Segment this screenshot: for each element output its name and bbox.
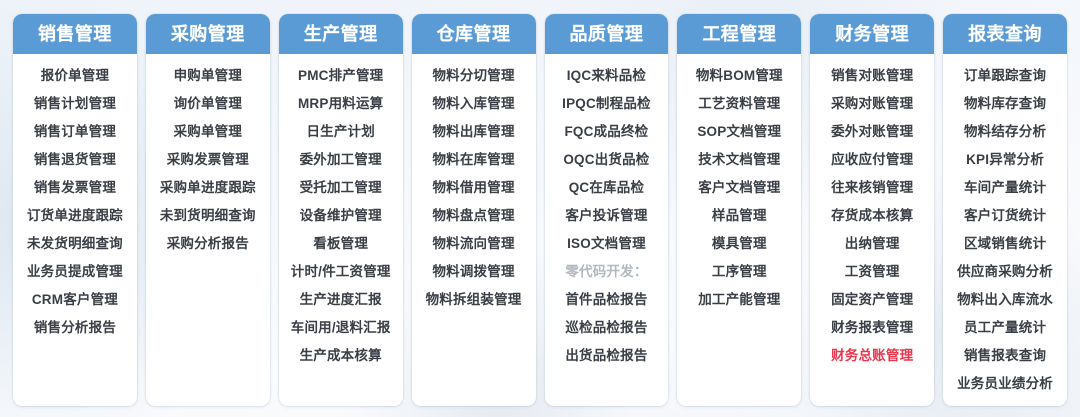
- menu-item-物料BOM管理[interactable]: 物料BOM管理: [696, 66, 783, 86]
- menu-item-OQC出货品检[interactable]: OQC出货品检: [563, 150, 649, 170]
- menu-item-应收应付管理[interactable]: 应收应付管理: [831, 150, 913, 170]
- menu-item-未到货明细查询[interactable]: 未到货明细查询: [160, 206, 256, 226]
- card-header-报表查询[interactable]: 报表查询: [943, 14, 1067, 54]
- menu-item-供应商采购分析[interactable]: 供应商采购分析: [957, 262, 1053, 282]
- menu-item-采购发票管理[interactable]: 采购发票管理: [167, 150, 249, 170]
- menu-item-报价单管理[interactable]: 报价单管理: [41, 66, 110, 86]
- menu-item-物料分切管理[interactable]: 物料分切管理: [432, 66, 514, 86]
- card-header-title: 报表查询: [968, 25, 1042, 43]
- card-header-title: 工程管理: [702, 25, 776, 43]
- menu-item-采购单管理[interactable]: 采购单管理: [174, 122, 243, 142]
- menu-item-固定资产管理[interactable]: 固定资产管理: [831, 290, 913, 310]
- menu-item-看板管理[interactable]: 看板管理: [313, 234, 368, 254]
- menu-item-受托加工管理[interactable]: 受托加工管理: [300, 178, 382, 198]
- card-header-title: 财务管理: [835, 25, 909, 43]
- menu-item-物料在库管理[interactable]: 物料在库管理: [432, 150, 514, 170]
- menu-item-销售报表查询[interactable]: 销售报表查询: [964, 346, 1046, 366]
- menu-item-客户文档管理[interactable]: 客户文档管理: [698, 178, 780, 198]
- menu-item-物料入库管理[interactable]: 物料入库管理: [432, 94, 514, 114]
- card-header-销售管理[interactable]: 销售管理: [13, 14, 137, 54]
- menu-item-往来核销管理[interactable]: 往来核销管理: [831, 178, 913, 198]
- card-header-工程管理[interactable]: 工程管理: [677, 14, 801, 54]
- menu-item-MRP用料运算[interactable]: MRP用料运算: [298, 94, 383, 114]
- card-header-title: 生产管理: [304, 25, 378, 43]
- menu-item-业务员业绩分析[interactable]: 业务员业绩分析: [957, 374, 1053, 394]
- card-body-品质管理: IQC来料品检IPQC制程品检FQC成品终检OQC出货品检QC在库品检客户投诉管…: [545, 54, 669, 406]
- menu-item-IQC来料品检[interactable]: IQC来料品检: [567, 66, 646, 86]
- menu-item-模具管理[interactable]: 模具管理: [712, 234, 767, 254]
- card-header-title: 采购管理: [171, 25, 245, 43]
- menu-item-车间用-退料汇报[interactable]: 车间用/退料汇报: [291, 318, 391, 338]
- module-card-仓库管理: 仓库管理物料分切管理物料入库管理物料出库管理物料在库管理物料借用管理物料盘点管理…: [412, 14, 536, 406]
- menu-item-巡检品检报告[interactable]: 巡检品检报告: [565, 318, 647, 338]
- module-card-报表查询: 报表查询订单跟踪查询物料库存查询物料结存分析KPI异常分析车间产量统计客户订货统…: [943, 14, 1067, 406]
- module-card-销售管理: 销售管理报价单管理销售计划管理销售订单管理销售退货管理销售发票管理订货单进度跟踪…: [13, 14, 137, 406]
- menu-item-样品管理[interactable]: 样品管理: [712, 206, 767, 226]
- menu-item-车间产量统计[interactable]: 车间产量统计: [964, 178, 1046, 198]
- card-header-title: 仓库管理: [437, 25, 511, 43]
- menu-item-物料出库管理[interactable]: 物料出库管理: [432, 122, 514, 142]
- menu-item-存货成本核算[interactable]: 存货成本核算: [831, 206, 913, 226]
- menu-item-CRM客户管理[interactable]: CRM客户管理: [32, 290, 118, 310]
- menu-item-询价单管理[interactable]: 询价单管理: [174, 94, 243, 114]
- menu-item-日生产计划[interactable]: 日生产计划: [306, 122, 375, 142]
- menu-item-订货单进度跟踪[interactable]: 订货单进度跟踪: [27, 206, 123, 226]
- module-card-工程管理: 工程管理物料BOM管理工艺资料管理SOP文档管理技术文档管理客户文档管理样品管理…: [677, 14, 801, 406]
- card-header-品质管理[interactable]: 品质管理: [545, 14, 669, 54]
- card-body-报表查询: 订单跟踪查询物料库存查询物料结存分析KPI异常分析车间产量统计客户订货统计区域销…: [943, 54, 1067, 406]
- menu-item-加工产能管理[interactable]: 加工产能管理: [698, 290, 780, 310]
- card-body-生产管理: PMC排产管理MRP用料运算日生产计划委外加工管理受托加工管理设备维护管理看板管…: [279, 54, 403, 406]
- menu-item-工资管理[interactable]: 工资管理: [845, 262, 900, 282]
- menu-item-客户订货统计[interactable]: 客户订货统计: [964, 206, 1046, 226]
- module-card-生产管理: 生产管理PMC排产管理MRP用料运算日生产计划委外加工管理受托加工管理设备维护管…: [279, 14, 403, 406]
- module-board: 销售管理报价单管理销售计划管理销售订单管理销售退货管理销售发票管理订货单进度跟踪…: [0, 0, 1080, 417]
- menu-item-客户投诉管理[interactable]: 客户投诉管理: [565, 206, 647, 226]
- menu-item-采购分析报告[interactable]: 采购分析报告: [167, 234, 249, 254]
- card-header-生产管理[interactable]: 生产管理: [279, 14, 403, 54]
- card-header-采购管理[interactable]: 采购管理: [146, 14, 270, 54]
- menu-item-员工产量统计[interactable]: 员工产量统计: [964, 318, 1046, 338]
- menu-item-KPI异常分析[interactable]: KPI异常分析: [966, 150, 1044, 170]
- menu-item-物料流向管理[interactable]: 物料流向管理: [432, 234, 514, 254]
- menu-item-PMC排产管理[interactable]: PMC排产管理: [298, 66, 383, 86]
- card-header-title: 品质管理: [569, 25, 643, 43]
- menu-item-财务报表管理[interactable]: 财务报表管理: [831, 318, 913, 338]
- menu-item-销售退货管理[interactable]: 销售退货管理: [34, 150, 116, 170]
- menu-item-物料盘点管理[interactable]: 物料盘点管理: [432, 206, 514, 226]
- menu-item-物料借用管理[interactable]: 物料借用管理: [432, 178, 514, 198]
- menu-item-区域销售统计[interactable]: 区域销售统计: [964, 234, 1046, 254]
- menu-item-物料结存分析[interactable]: 物料结存分析: [964, 122, 1046, 142]
- menu-item-技术文档管理[interactable]: 技术文档管理: [698, 150, 780, 170]
- module-card-品质管理: 品质管理IQC来料品检IPQC制程品检FQC成品终检OQC出货品检QC在库品检客…: [545, 14, 669, 406]
- menu-item-订单跟踪查询[interactable]: 订单跟踪查询: [964, 66, 1046, 86]
- menu-item-生产成本核算[interactable]: 生产成本核算: [300, 346, 382, 366]
- menu-item-IPQC制程品检[interactable]: IPQC制程品检: [562, 94, 651, 114]
- menu-item-工艺资料管理[interactable]: 工艺资料管理: [698, 94, 780, 114]
- menu-item-物料调拨管理[interactable]: 物料调拨管理: [432, 262, 514, 282]
- card-body-采购管理: 申购单管理询价单管理采购单管理采购发票管理采购单进度跟踪未到货明细查询采购分析报…: [146, 54, 270, 406]
- menu-item-申购单管理[interactable]: 申购单管理: [174, 66, 243, 86]
- menu-item-计时-件工资管理[interactable]: 计时/件工资管理: [291, 262, 391, 282]
- menu-item-未发货明细查询[interactable]: 未发货明细查询: [27, 234, 123, 254]
- menu-item-出货品检报告[interactable]: 出货品检报告: [565, 346, 647, 366]
- menu-item-物料拆组装管理[interactable]: 物料拆组装管理: [426, 290, 522, 310]
- card-header-title: 销售管理: [38, 25, 112, 43]
- card-body-销售管理: 报价单管理销售计划管理销售订单管理销售退货管理销售发票管理订货单进度跟踪未发货明…: [13, 54, 137, 406]
- menu-item-生产进度汇报[interactable]: 生产进度汇报: [300, 290, 382, 310]
- module-card-财务管理: 财务管理销售对账管理采购对账管理委外对账管理应收应付管理往来核销管理存货成本核算…: [810, 14, 934, 406]
- menu-item-物料出入库流水[interactable]: 物料出入库流水: [957, 290, 1053, 310]
- menu-item-销售订单管理[interactable]: 销售订单管理: [34, 122, 116, 142]
- module-card-采购管理: 采购管理申购单管理询价单管理采购单管理采购发票管理采购单进度跟踪未到货明细查询采…: [146, 14, 270, 406]
- menu-item-首件品检报告[interactable]: 首件品检报告: [565, 290, 647, 310]
- menu-item-物料库存查询[interactable]: 物料库存查询: [964, 94, 1046, 114]
- menu-item-SOP文档管理[interactable]: SOP文档管理: [697, 122, 781, 142]
- menu-item-采购对账管理[interactable]: 采购对账管理: [831, 94, 913, 114]
- menu-item-委外对账管理[interactable]: 委外对账管理: [831, 122, 913, 142]
- card-header-财务管理[interactable]: 财务管理: [810, 14, 934, 54]
- menu-item-销售分析报告[interactable]: 销售分析报告: [34, 318, 116, 338]
- menu-item-设备维护管理[interactable]: 设备维护管理: [300, 206, 382, 226]
- card-header-仓库管理[interactable]: 仓库管理: [412, 14, 536, 54]
- menu-item-销售计划管理[interactable]: 销售计划管理: [34, 94, 116, 114]
- card-body-工程管理: 物料BOM管理工艺资料管理SOP文档管理技术文档管理客户文档管理样品管理模具管理…: [677, 54, 801, 406]
- menu-item-委外加工管理[interactable]: 委外加工管理: [300, 150, 382, 170]
- menu-item-ISO文档管理[interactable]: ISO文档管理: [567, 234, 646, 254]
- menu-item-出纳管理[interactable]: 出纳管理: [845, 234, 900, 254]
- menu-item-业务员提成管理[interactable]: 业务员提成管理: [27, 262, 123, 282]
- menu-item-销售发票管理[interactable]: 销售发票管理: [34, 178, 116, 198]
- menu-item-FQC成品终检[interactable]: FQC成品终检: [564, 122, 648, 142]
- menu-item-QC在库品检[interactable]: QC在库品检: [569, 178, 644, 198]
- menu-item-销售对账管理[interactable]: 销售对账管理: [831, 66, 913, 86]
- menu-item-采购单进度跟踪[interactable]: 采购单进度跟踪: [160, 178, 256, 198]
- menu-item-工序管理[interactable]: 工序管理: [712, 262, 767, 282]
- menu-section-label: 零代码开发：: [565, 262, 647, 282]
- card-body-财务管理: 销售对账管理采购对账管理委外对账管理应收应付管理往来核销管理存货成本核算出纳管理…: [810, 54, 934, 406]
- menu-item-财务总账管理[interactable]: 财务总账管理: [831, 346, 913, 366]
- card-body-仓库管理: 物料分切管理物料入库管理物料出库管理物料在库管理物料借用管理物料盘点管理物料流向…: [412, 54, 536, 406]
